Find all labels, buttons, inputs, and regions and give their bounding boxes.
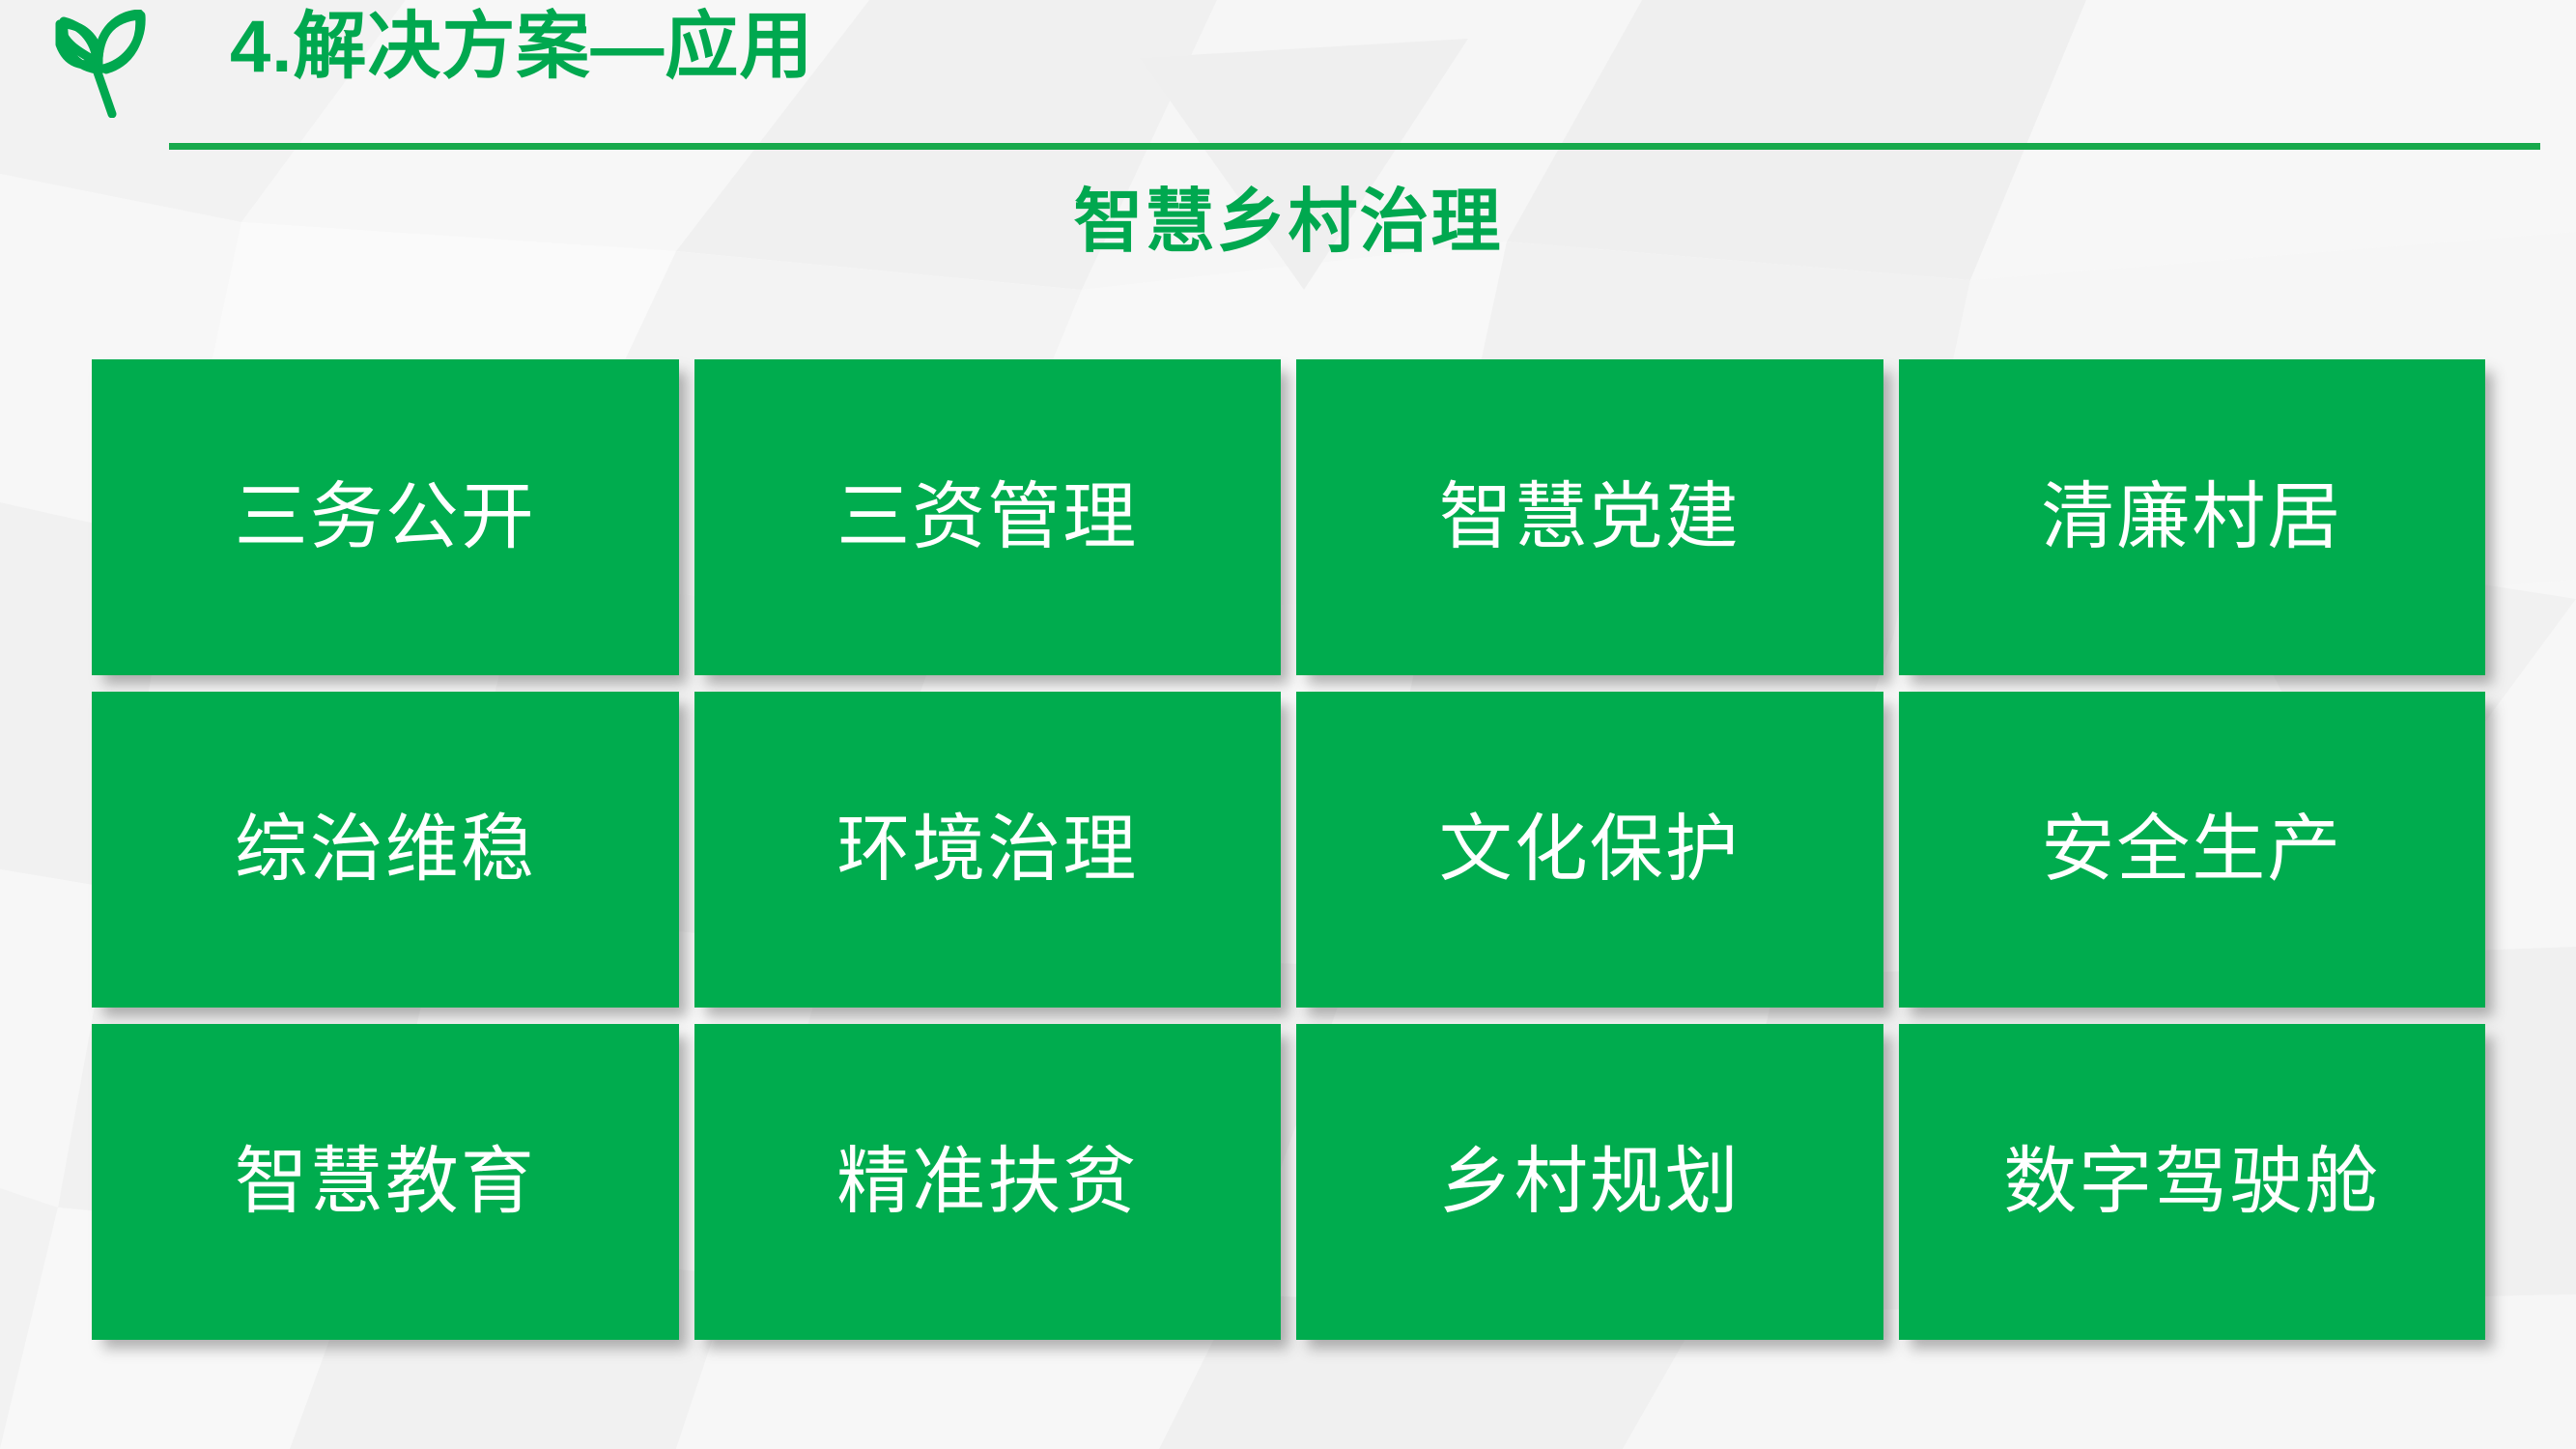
app-card-label: 环境治理 <box>836 810 1138 891</box>
app-card-zongzhi-weiwen[interactable]: 综治维稳 <box>92 692 679 1008</box>
page-title: 4.解决方案—应用 <box>230 8 813 87</box>
app-card-label: 精准扶贫 <box>836 1142 1138 1223</box>
app-card-zhihui-dangjian[interactable]: 智慧党建 <box>1296 359 1883 675</box>
app-card-label: 综治维稳 <box>235 810 536 891</box>
app-card-huanjing-zhili[interactable]: 环境治理 <box>694 692 1282 1008</box>
section-subtitle: 智慧乡村治理 <box>0 182 2576 264</box>
app-card-label: 数字驾驶舱 <box>2003 1142 2380 1223</box>
app-card-label: 智慧教育 <box>235 1142 536 1223</box>
slide-root: 4.解决方案—应用 智慧乡村治理 三务公开 三资管理 智慧党建 清廉村居 综治维… <box>0 0 2576 1449</box>
app-card-shuzi-jiashicang[interactable]: 数字驾驶舱 <box>1899 1024 2486 1340</box>
app-card-jingzhun-fupin[interactable]: 精准扶贫 <box>694 1024 1282 1340</box>
leaf-logo-icon <box>50 10 155 118</box>
app-card-qinglian-cunju[interactable]: 清廉村居 <box>1899 359 2486 675</box>
app-card-xiangcun-guihua[interactable]: 乡村规划 <box>1296 1024 1883 1340</box>
app-card-label: 清廉村居 <box>2041 477 2342 558</box>
app-card-label: 三务公开 <box>235 477 536 558</box>
app-card-anquan-shengchan[interactable]: 安全生产 <box>1899 692 2486 1008</box>
slide-header: 4.解决方案—应用 <box>0 0 2576 155</box>
app-card-wenhua-baohu[interactable]: 文化保护 <box>1296 692 1883 1008</box>
application-card-grid: 三务公开 三资管理 智慧党建 清廉村居 综治维稳 环境治理 文化保护 安全生产 … <box>92 359 2485 1340</box>
header-divider <box>169 143 2540 150</box>
app-card-label: 智慧党建 <box>1439 477 1741 558</box>
app-card-label: 文化保护 <box>1439 810 1741 891</box>
app-card-sanwu-gongkai[interactable]: 三务公开 <box>92 359 679 675</box>
app-card-label: 安全生产 <box>2041 810 2342 891</box>
app-card-sanzi-guanli[interactable]: 三资管理 <box>694 359 1282 675</box>
app-card-label: 三资管理 <box>836 477 1138 558</box>
app-card-zhihui-jiaoyu[interactable]: 智慧教育 <box>92 1024 679 1340</box>
app-card-label: 乡村规划 <box>1439 1142 1741 1223</box>
